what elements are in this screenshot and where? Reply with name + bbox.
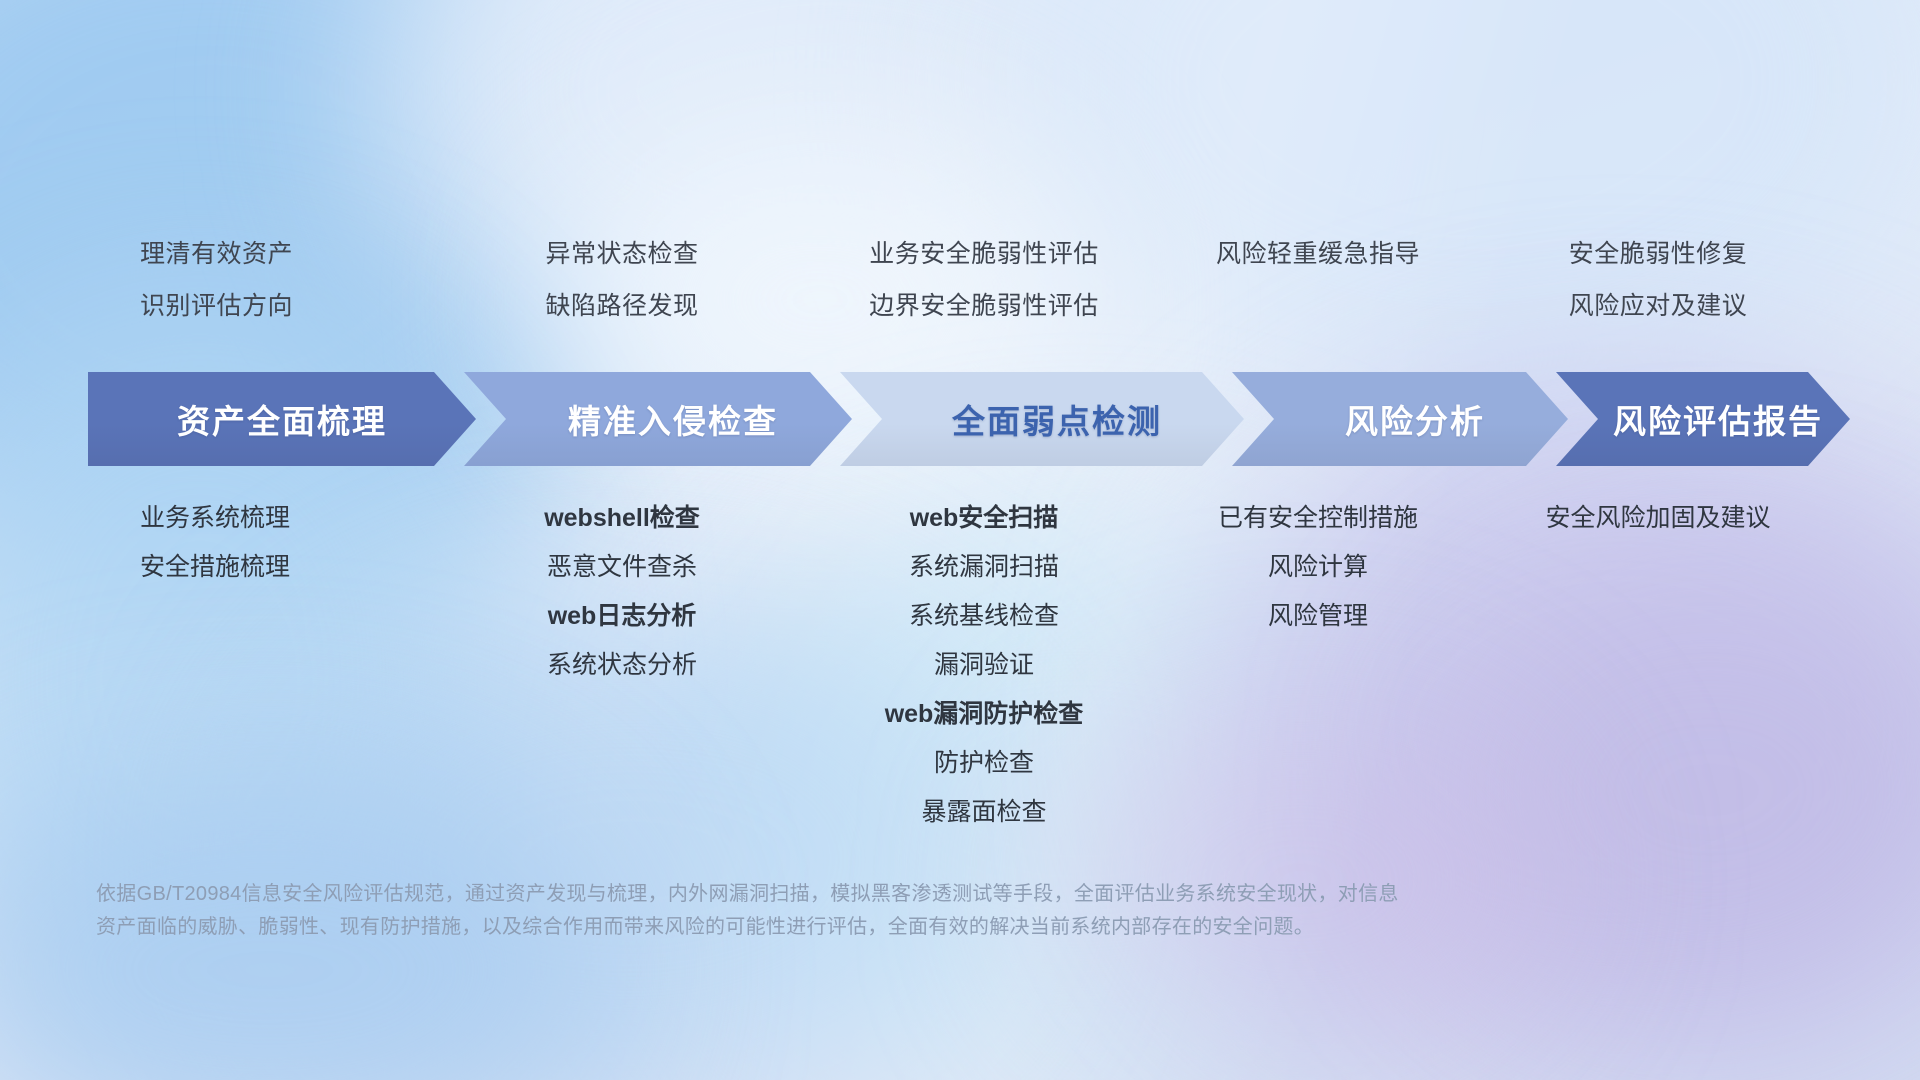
top-label: 边界安全脆弱性评估 — [800, 280, 1168, 332]
list-item: web漏洞防护检查 — [800, 690, 1168, 739]
bottom-list-weakness-detection: web安全扫描 系统漏洞扫描 系统基线检查 漏洞验证 web漏洞防护检查 防护检… — [800, 494, 1168, 837]
stage-title: 全面弱点检测 — [952, 395, 1162, 443]
stage-title: 风险分析 — [1345, 395, 1485, 443]
top-labels-risk-analysis: 风险轻重缓急指导 — [1168, 228, 1468, 332]
top-label: 风险应对及建议 — [1468, 280, 1848, 332]
top-labels-weakness-detection: 业务安全脆弱性评估 边界安全脆弱性评估 — [800, 228, 1168, 332]
stage-top-labels-row: 理清有效资产 识别评估方向 异常状态检查 缺陷路径发现 业务安全脆弱性评估 边界… — [88, 228, 1868, 332]
list-item: 风险计算 — [1168, 543, 1468, 592]
bottom-list-asset-inventory: 业务系统梳理 安全措施梳理 — [88, 494, 444, 837]
top-labels-intrusion-check: 异常状态检查 缺陷路径发现 — [444, 228, 800, 332]
stage-title: 风险评估报告 — [1613, 395, 1823, 443]
stage-title: 精准入侵检查 — [568, 395, 778, 443]
stage-chevron-weakness-detection[interactable]: 全面弱点检测 — [840, 372, 1244, 466]
stage-chevron-assessment-report[interactable]: 风险评估报告 — [1556, 372, 1850, 466]
top-label: 识别评估方向 — [140, 280, 444, 332]
footer-line-1: 依据GB/T20984信息安全风险评估规范，通过资产发现与梳理，内外网漏洞扫描，… — [96, 878, 1656, 911]
bottom-list-assessment-report: 安全风险加固及建议 — [1468, 494, 1848, 837]
bottom-list-intrusion-check: webshell检查 恶意文件查杀 web日志分析 系统状态分析 — [444, 494, 800, 837]
top-label: 缺陷路径发现 — [444, 280, 800, 332]
list-item: web安全扫描 — [800, 494, 1168, 543]
list-item: 暴露面检查 — [800, 788, 1168, 837]
list-item: 系统状态分析 — [444, 641, 800, 690]
list-item: 系统漏洞扫描 — [800, 543, 1168, 592]
top-label: 业务安全脆弱性评估 — [800, 228, 1168, 280]
list-item: 漏洞验证 — [800, 641, 1168, 690]
footer-description: 依据GB/T20984信息安全风险评估规范，通过资产发现与梳理，内外网漏洞扫描，… — [96, 878, 1656, 944]
top-label: 理清有效资产 — [140, 228, 444, 280]
stage-chevron-risk-analysis[interactable]: 风险分析 — [1232, 372, 1568, 466]
list-item: webshell检查 — [444, 494, 800, 543]
list-item: 恶意文件查杀 — [444, 543, 800, 592]
top-label: 异常状态检查 — [444, 228, 800, 280]
top-labels-assessment-report: 安全脆弱性修复 风险应对及建议 — [1468, 228, 1848, 332]
list-item: 风险管理 — [1168, 592, 1468, 641]
stage-chevron-intrusion-check[interactable]: 精准入侵检查 — [464, 372, 852, 466]
process-diagram: 理清有效资产 识别评估方向 异常状态检查 缺陷路径发现 业务安全脆弱性评估 边界… — [0, 0, 1920, 1080]
top-labels-asset-inventory: 理清有效资产 识别评估方向 — [88, 228, 444, 332]
footer-line-2: 资产面临的威胁、脆弱性、现有防护措施，以及综合作用而带来风险的可能性进行评估，全… — [96, 911, 1656, 944]
stage-title: 资产全面梳理 — [177, 395, 387, 443]
list-item: 已有安全控制措施 — [1168, 494, 1468, 543]
stage-bottom-lists-row: 业务系统梳理 安全措施梳理 webshell检查 恶意文件查杀 web日志分析 … — [88, 494, 1868, 837]
list-item: 防护检查 — [800, 739, 1168, 788]
top-label: 安全脆弱性修复 — [1468, 228, 1848, 280]
process-chevron-band: 资产全面梳理 精准入侵检查 全面弱点检测 风险分析 风险评估报告 — [88, 372, 1850, 466]
list-item: web日志分析 — [444, 592, 800, 641]
list-item: 业务系统梳理 — [140, 494, 444, 543]
bottom-list-risk-analysis: 已有安全控制措施 风险计算 风险管理 — [1168, 494, 1468, 837]
list-item: 系统基线检查 — [800, 592, 1168, 641]
stage-chevron-asset-inventory[interactable]: 资产全面梳理 — [88, 372, 476, 466]
top-label: 风险轻重缓急指导 — [1168, 228, 1468, 280]
list-item: 安全风险加固及建议 — [1468, 494, 1848, 543]
list-item: 安全措施梳理 — [140, 543, 444, 592]
